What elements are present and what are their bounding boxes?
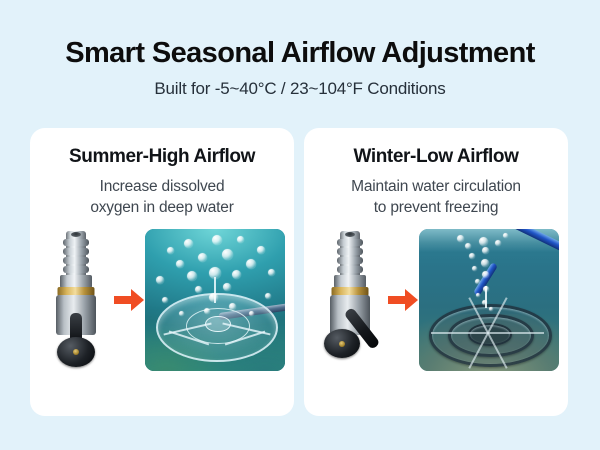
- bubble: [249, 311, 254, 316]
- bubble: [483, 286, 489, 292]
- ball-valve-fitting-throttled-icon: [313, 229, 387, 371]
- page-subtitle: Built for -5~40°C / 23~104°F Conditions: [0, 79, 600, 99]
- barb-rib: [63, 248, 89, 255]
- infographic-root: Smart Seasonal Airflow Adjustment Built …: [0, 0, 600, 450]
- bubble: [457, 235, 464, 242]
- card-media-row-summer: [38, 229, 286, 371]
- barb-bore: [71, 232, 81, 237]
- barb-rib: [63, 266, 89, 273]
- bubble: [167, 247, 174, 254]
- card-row: Summer-High Airflow Increase dissolved o…: [30, 128, 568, 416]
- bubble: [237, 236, 244, 243]
- barb-rib: [337, 266, 363, 273]
- hose-barb: [66, 231, 86, 277]
- bubble: [268, 269, 275, 276]
- photo-summer-diffuser: [145, 229, 285, 371]
- bubble: [162, 297, 168, 303]
- bubble: [176, 260, 184, 268]
- bubble: [232, 270, 241, 279]
- hose-barb: [340, 231, 360, 277]
- card-description-line1: Increase dissolved: [100, 178, 225, 195]
- barb-rib: [63, 239, 89, 246]
- right-arrow-icon: [114, 287, 144, 313]
- right-arrow-icon: [388, 287, 418, 313]
- header: Smart Seasonal Airflow Adjustment Built …: [0, 0, 600, 99]
- barb-rib: [337, 239, 363, 246]
- bubble: [184, 239, 193, 248]
- bubble: [495, 240, 501, 246]
- bubble: [482, 247, 489, 254]
- bubble: [209, 267, 221, 279]
- bubble: [246, 259, 256, 269]
- ring-diffuser: [429, 304, 547, 361]
- bubble: [482, 300, 487, 305]
- card-winter[interactable]: Winter-Low Airflow Maintain water circul…: [304, 128, 568, 416]
- bubble: [222, 249, 233, 260]
- bubble: [156, 276, 164, 284]
- bubble: [212, 235, 222, 245]
- bubble: [469, 253, 475, 259]
- bubble: [195, 286, 202, 293]
- barb-rib: [63, 257, 89, 264]
- bubble: [223, 283, 231, 291]
- bubble: [265, 293, 271, 299]
- card-description-winter: Maintain water circulation to prevent fr…: [351, 177, 521, 219]
- card-description-summer: Increase dissolved oxygen in deep water: [90, 177, 233, 219]
- valve-screw: [73, 349, 79, 355]
- photo-winter-diffuser: [419, 229, 559, 371]
- bubble: [481, 259, 489, 267]
- bubble: [187, 271, 197, 281]
- card-description-line2: to prevent freezing: [374, 199, 499, 216]
- card-media-row-winter: [312, 229, 560, 371]
- valve-screw: [339, 341, 345, 347]
- card-description-line2: oxygen in deep water: [90, 199, 233, 216]
- underwater-scene: [145, 229, 285, 371]
- bubble: [179, 311, 184, 316]
- barb-rib: [337, 257, 363, 264]
- card-title-winter: Winter-Low Airflow: [353, 146, 518, 168]
- bubble: [229, 303, 236, 310]
- card-description-line1: Maintain water circulation: [351, 178, 521, 195]
- bubble: [198, 253, 207, 262]
- underwater-scene: [419, 229, 559, 371]
- ball-valve-fitting-open-icon: [39, 229, 113, 371]
- card-title-summer: Summer-High Airflow: [69, 146, 255, 168]
- bubble: [257, 246, 265, 254]
- card-summer[interactable]: Summer-High Airflow Increase dissolved o…: [30, 128, 294, 416]
- bubble: [476, 293, 480, 297]
- diffuser-disc: [156, 293, 278, 362]
- barb-bore: [345, 232, 355, 237]
- bubble: [472, 266, 477, 271]
- page-title: Smart Seasonal Airflow Adjustment: [0, 38, 600, 68]
- barb-rib: [337, 248, 363, 255]
- bubble: [489, 307, 493, 311]
- bubble: [475, 279, 480, 284]
